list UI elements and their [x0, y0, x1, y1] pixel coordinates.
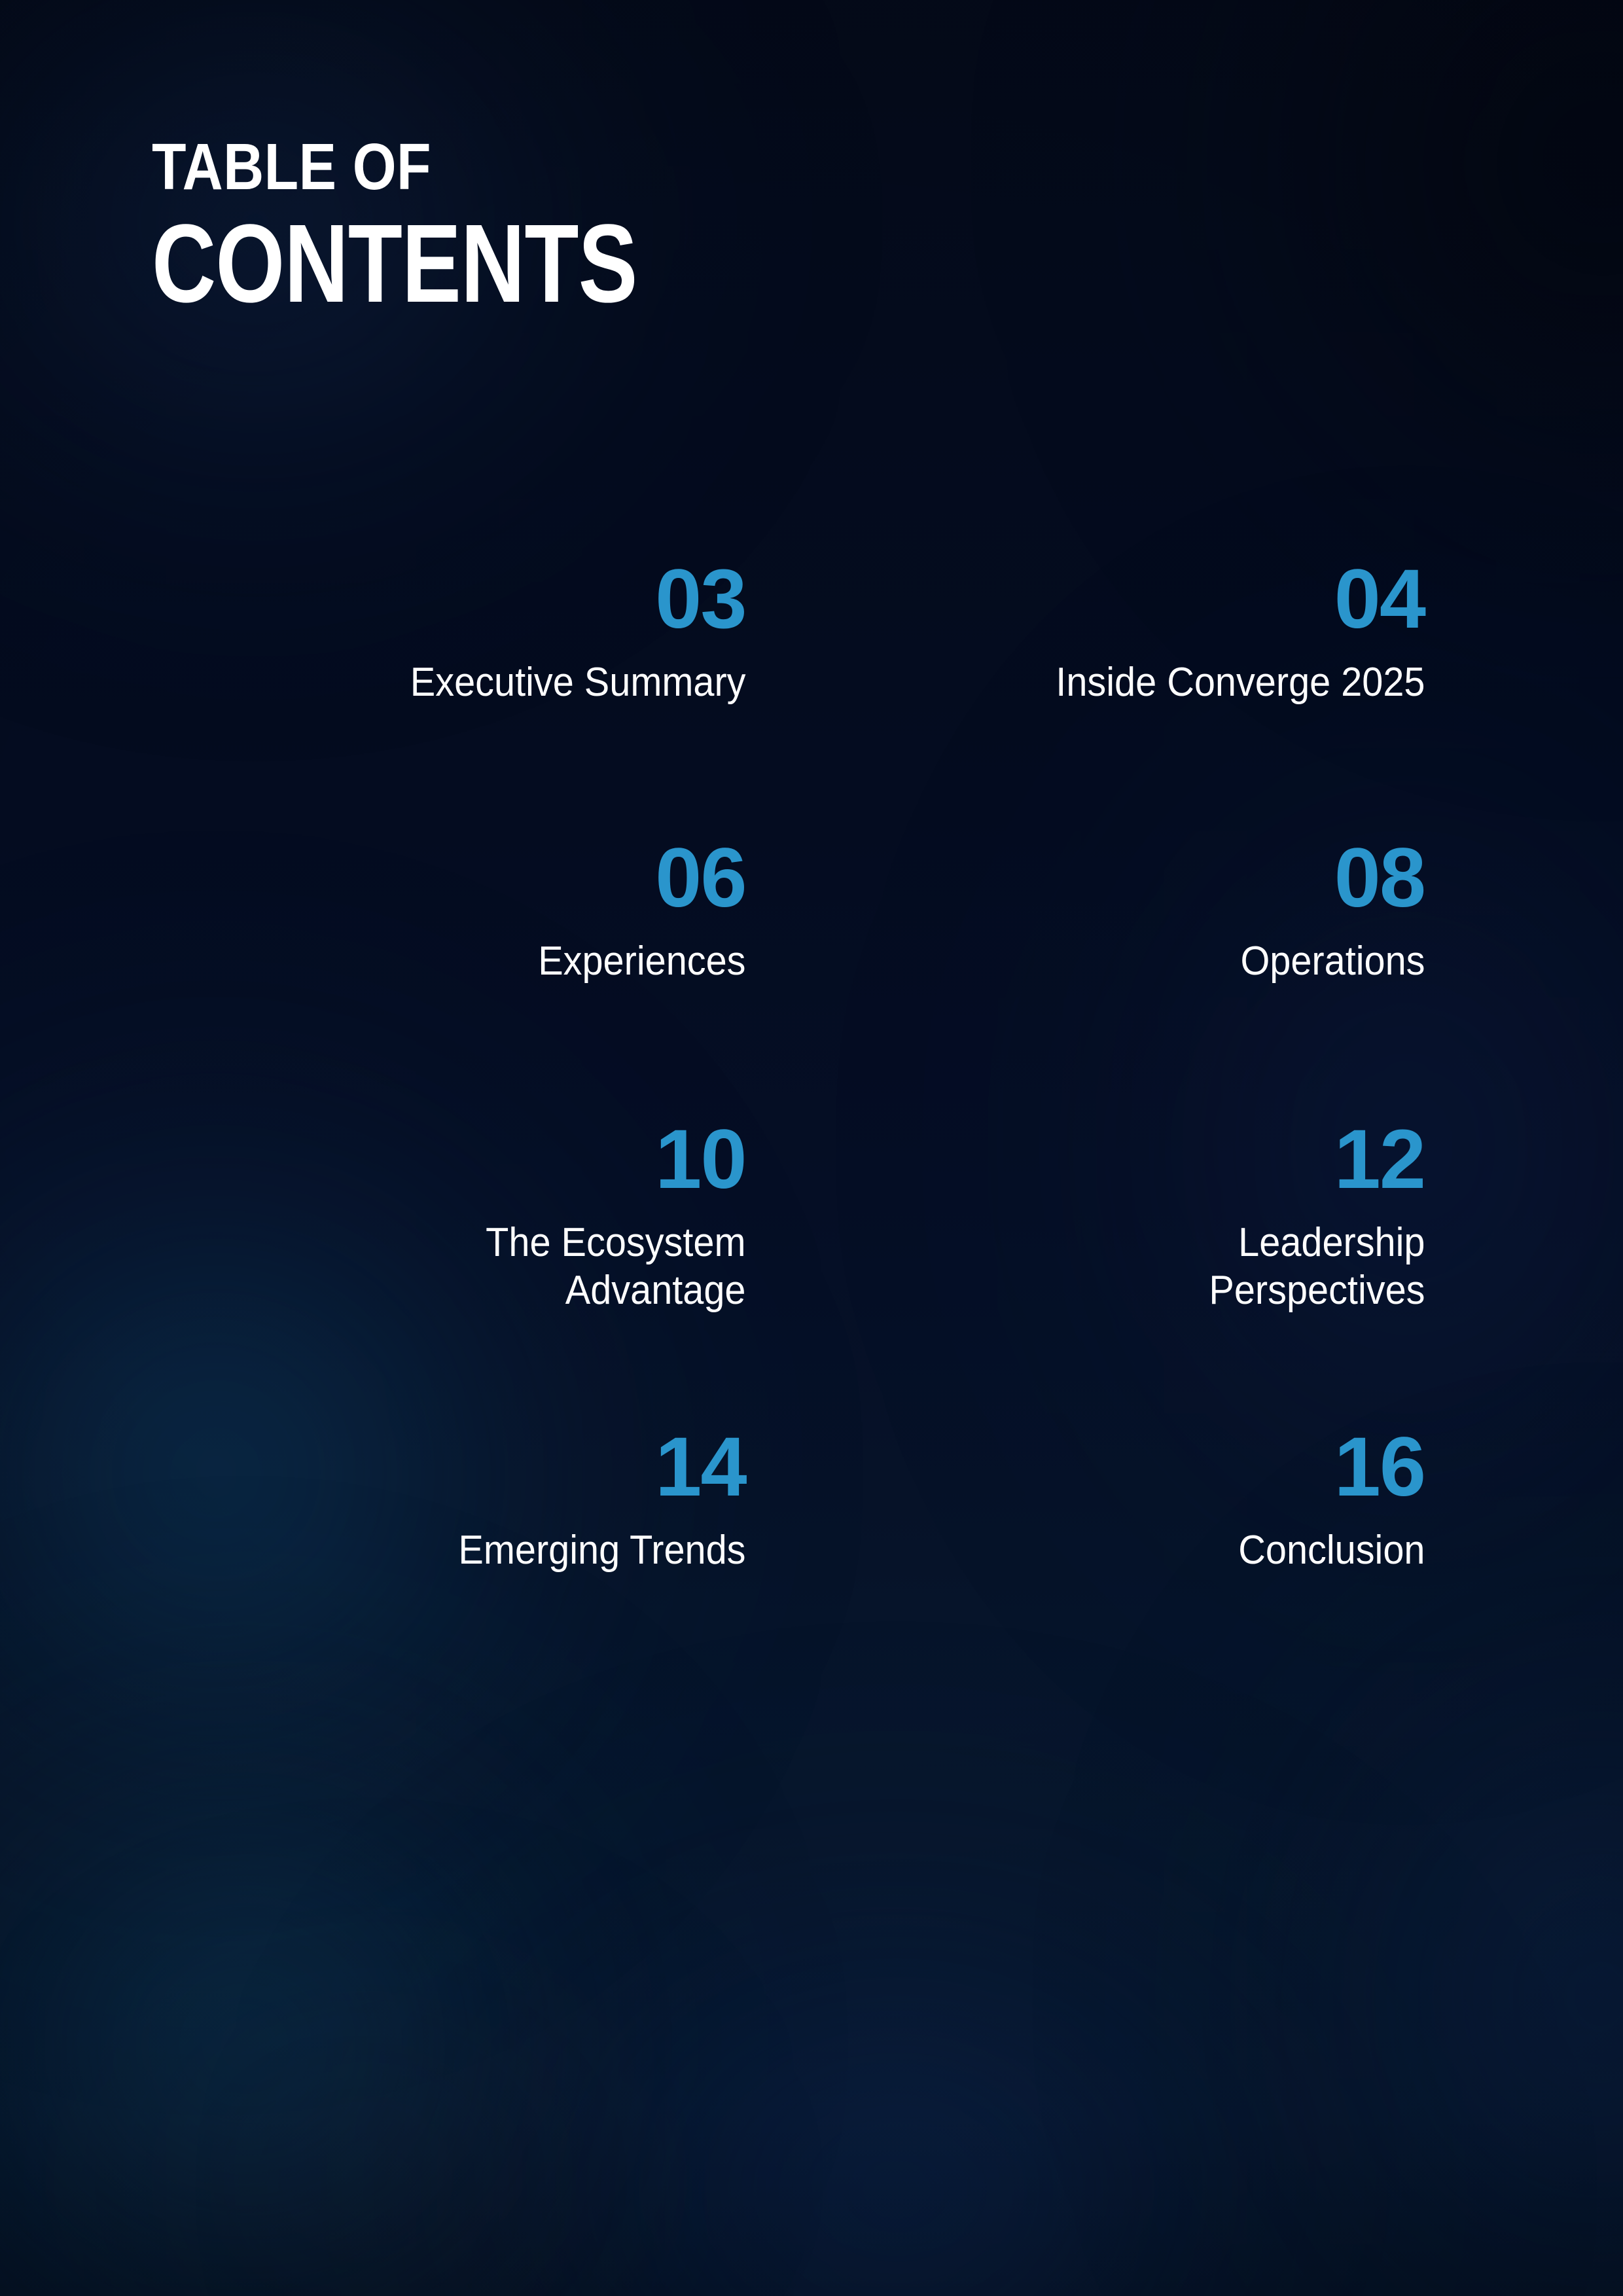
toc-entry-number: 03 — [152, 558, 746, 641]
toc-entry-number: 10 — [152, 1118, 746, 1202]
page-title: TABLE OF CONTENTS — [152, 135, 758, 319]
page-content: TABLE OF CONTENTS 03 Executive Summary 0… — [0, 0, 1623, 2296]
toc-entry-label: Emerging Trends — [194, 1526, 746, 1574]
toc-entry-number: 04 — [831, 558, 1425, 641]
toc-entry[interactable]: 03 Executive Summary — [152, 558, 746, 836]
toc-entry[interactable]: 16 Conclusion — [831, 1426, 1425, 1556]
toc-entry-grid: 03 Executive Summary 04 Inside Converge … — [152, 558, 1425, 1556]
page-title-line-1: TABLE OF — [152, 135, 673, 199]
toc-entry-label: Conclusion — [872, 1526, 1425, 1574]
toc-entry[interactable]: 04 Inside Converge 2025 — [831, 558, 1425, 836]
toc-entry-number: 16 — [831, 1426, 1425, 1509]
toc-entry[interactable]: 14 Emerging Trends — [152, 1426, 746, 1556]
toc-entry[interactable]: 08 Operations — [831, 836, 1425, 1118]
toc-entry-label: Leadership Perspectives — [872, 1219, 1425, 1314]
toc-entry-label: The Ecosystem Advantage — [194, 1219, 746, 1314]
toc-entry-label: Inside Converge 2025 — [872, 658, 1425, 706]
toc-entry-label: Experiences — [194, 937, 746, 985]
toc-entry-number: 06 — [152, 836, 746, 920]
toc-entry[interactable]: 12 Leadership Perspectives — [831, 1118, 1425, 1426]
page-title-line-2: CONTENTS — [152, 208, 637, 319]
toc-entry-number: 12 — [831, 1118, 1425, 1202]
toc-page: TABLE OF CONTENTS 03 Executive Summary 0… — [0, 0, 1623, 2296]
toc-entry-number: 14 — [152, 1426, 746, 1509]
toc-entry-number: 08 — [831, 836, 1425, 920]
toc-entry-label: Executive Summary — [194, 658, 746, 706]
toc-entry[interactable]: 06 Experiences — [152, 836, 746, 1118]
toc-entry-label: Operations — [872, 937, 1425, 985]
toc-entry[interactable]: 10 The Ecosystem Advantage — [152, 1118, 746, 1426]
